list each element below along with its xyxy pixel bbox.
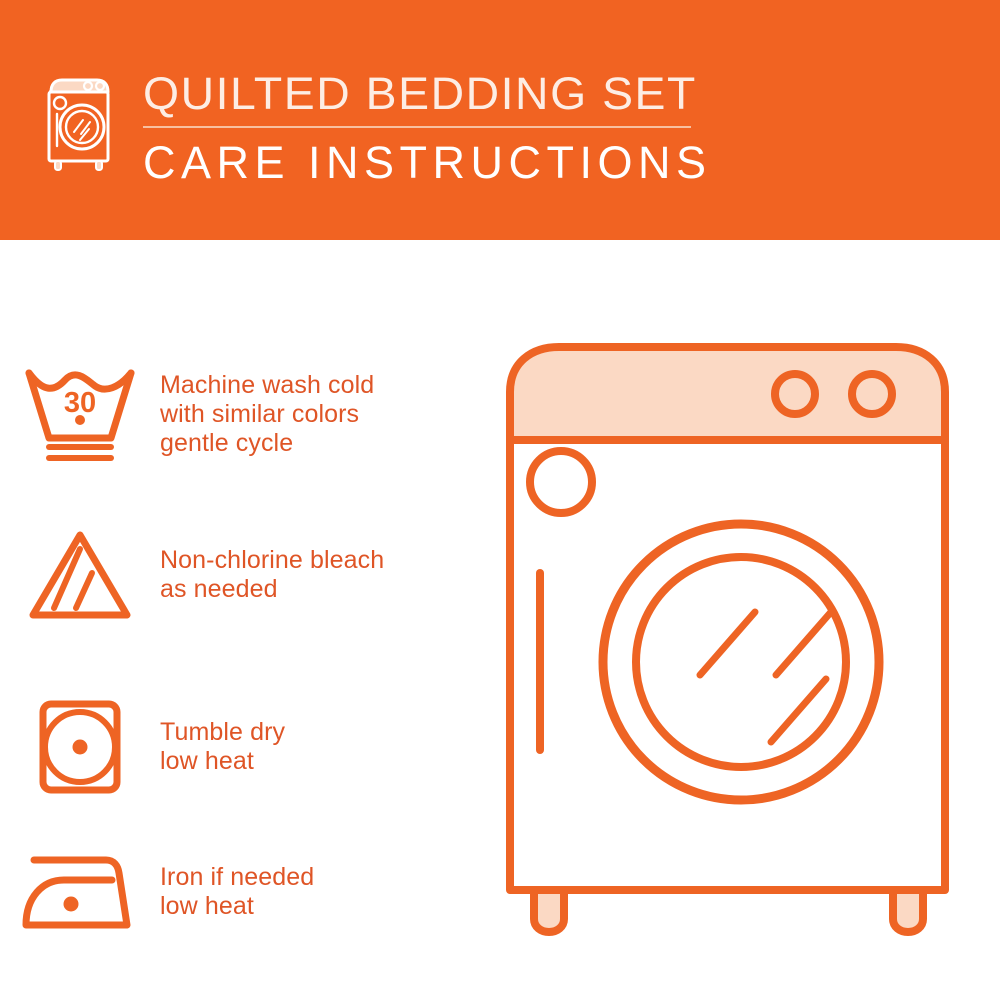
iron-low-heat-icon [0,842,160,942]
leg-right [893,890,923,932]
page-subtitle: CARE INSTRUCTIONS [143,137,703,189]
washing-machine-icon [44,74,116,174]
non-chlorine-bleach-triangle-icon [0,525,160,625]
header-divider [143,126,691,128]
care-text-iron: Iron if needed low heat [160,863,314,921]
wash-temperature-label: 30 [64,387,96,419]
care-text-bleach: Non-chlorine bleach as needed [160,546,384,604]
care-row-machine-wash: 30 Machine wash cold with similar colors… [0,360,480,468]
door-outer-ring[interactable] [603,524,879,800]
small-dial[interactable] [530,451,592,513]
tumble-dry-low-heat-icon [0,695,160,799]
control-panel [510,347,945,440]
care-text-tumble-dry: Tumble dry low heat [160,718,285,776]
wash-basin-30-gentle-icon: 30 [0,360,160,468]
leg-left [534,890,564,932]
care-row-tumble-dry: Tumble dry low heat [0,695,480,799]
care-row-iron: Iron if needed low heat [0,842,480,942]
header-text-block: QUILTED BEDDING SET CARE INSTRUCTIONS [143,68,703,189]
shine-line-2 [776,612,831,675]
washing-machine-illustration [493,330,973,945]
care-row-bleach: Non-chlorine bleach as needed [0,525,480,625]
care-instructions-infographic: QUILTED BEDDING SET CARE INSTRUCTIONS 30… [0,0,1000,1000]
header-banner: QUILTED BEDDING SET CARE INSTRUCTIONS [0,0,1000,240]
shine-line-1 [700,612,755,675]
door-inner-ring [636,557,846,767]
page-title: QUILTED BEDDING SET [143,68,720,120]
care-text-machine-wash: Machine wash cold with similar colors ge… [160,371,374,458]
